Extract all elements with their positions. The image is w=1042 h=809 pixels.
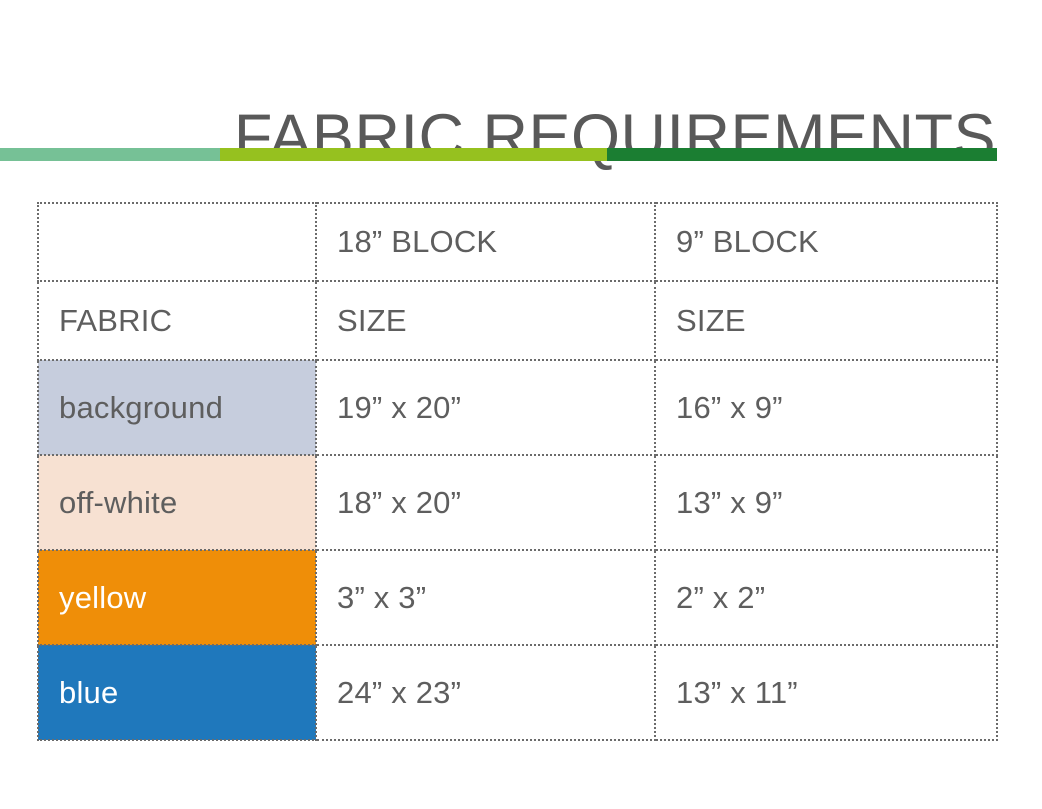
size-9-blue: 13” x 11” — [655, 645, 997, 740]
table-header-row-block: 18” BLOCK 9” BLOCK — [38, 203, 997, 281]
header-cell-fabric: FABRIC — [38, 281, 316, 360]
accent-bar-lime-segment — [220, 148, 607, 161]
table-row: background 19” x 20” 16” x 9” — [38, 360, 997, 455]
header-cell-size-18: SIZE — [316, 281, 655, 360]
header-cell-size-9: SIZE — [655, 281, 997, 360]
fabric-swatch-off-white: off-white — [38, 455, 316, 550]
fabric-swatch-yellow: yellow — [38, 550, 316, 645]
size-18-off-white: 18” x 20” — [316, 455, 655, 550]
fabric-swatch-blue: blue — [38, 645, 316, 740]
size-18-blue: 24” x 23” — [316, 645, 655, 740]
table-row: blue 24” x 23” 13” x 11” — [38, 645, 997, 740]
size-9-background: 16” x 9” — [655, 360, 997, 455]
size-18-background: 19” x 20” — [316, 360, 655, 455]
accent-bar — [0, 148, 997, 161]
table-row: yellow 3” x 3” 2” x 2” — [38, 550, 997, 645]
table-header-row-size: FABRIC SIZE SIZE — [38, 281, 997, 360]
size-18-yellow: 3” x 3” — [316, 550, 655, 645]
header-cell-empty — [38, 203, 316, 281]
fabric-swatch-background: background — [38, 360, 316, 455]
accent-bar-green-segment — [607, 148, 997, 161]
size-9-yellow: 2” x 2” — [655, 550, 997, 645]
size-9-off-white: 13” x 9” — [655, 455, 997, 550]
fabric-requirements-table: 18” BLOCK 9” BLOCK FABRIC SIZE SIZE back… — [37, 202, 998, 741]
header-cell-18-block: 18” BLOCK — [316, 203, 655, 281]
table-row: off-white 18” x 20” 13” x 9” — [38, 455, 997, 550]
header-cell-9-block: 9” BLOCK — [655, 203, 997, 281]
accent-bar-teal-segment — [0, 148, 220, 161]
